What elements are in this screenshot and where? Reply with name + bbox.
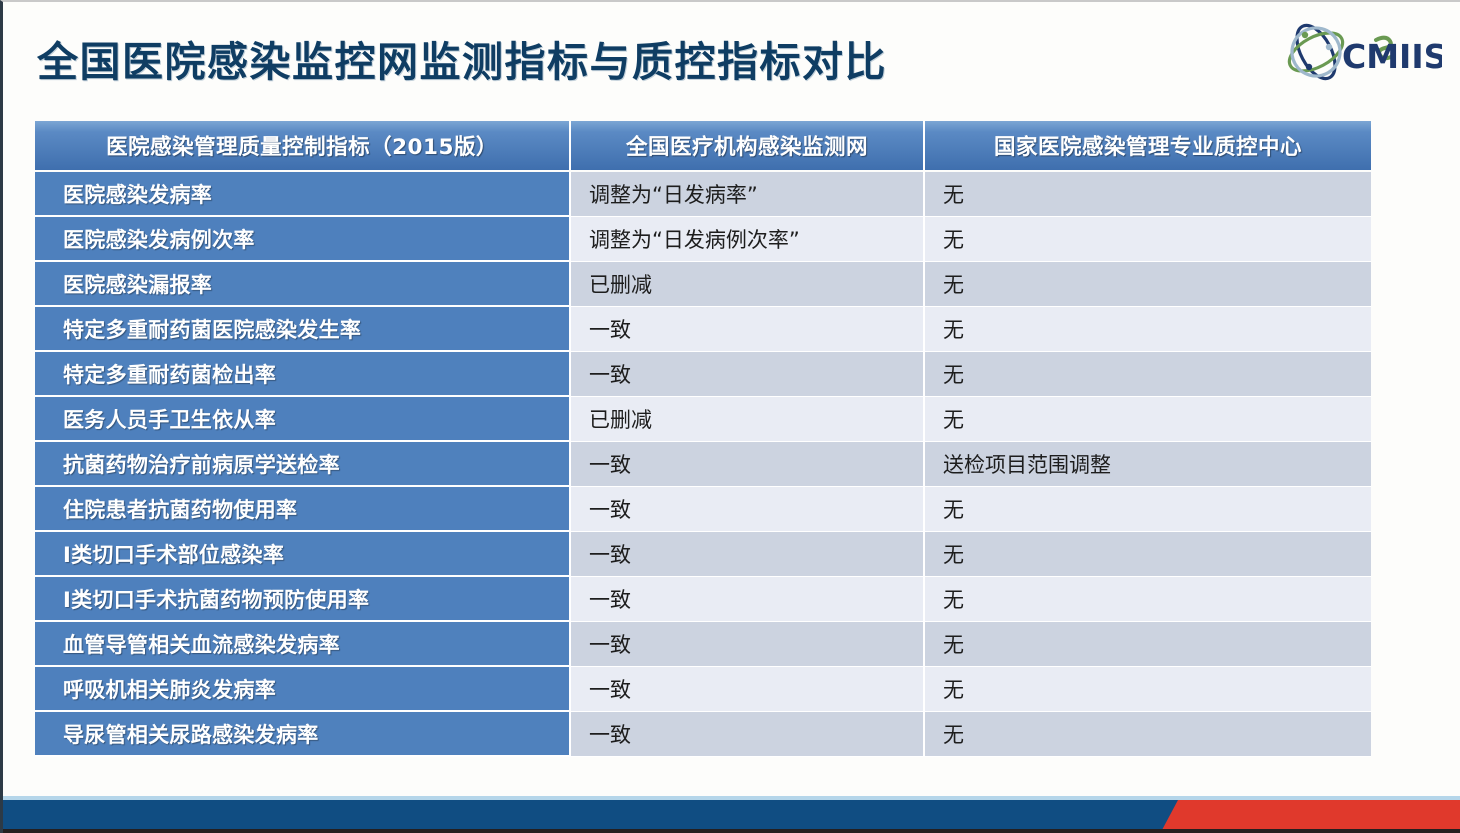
table-row: 住院患者抗菌药物使用率 一致 无 [35, 487, 1371, 532]
cell-indicator: 住院患者抗菌药物使用率 [35, 487, 571, 532]
table-row: 导尿管相关尿路感染发病率 一致 无 [35, 712, 1371, 757]
cell-network: 一致 [571, 577, 925, 622]
table-row: 呼吸机相关肺炎发病率 一致 无 [35, 667, 1371, 712]
cell-indicator: 抗菌药物治疗前病原学送检率 [35, 442, 571, 487]
cell-indicator: 呼吸机相关肺炎发病率 [35, 667, 571, 712]
cell-network: 一致 [571, 667, 925, 712]
cell-center: 无 [925, 667, 1371, 712]
cell-center: 无 [925, 262, 1371, 307]
header-cell-network: 全国医疗机构感染监测网 [571, 121, 925, 170]
comparison-table: 医院感染管理质量控制指标（2015版） 全国医疗机构感染监测网 国家医院感染管理… [35, 121, 1371, 757]
cell-network: 调整为“日发病率” [571, 172, 925, 217]
table-row: 医院感染发病例次率 调整为“日发病例次率” 无 [35, 217, 1371, 262]
cell-indicator: I类切口手术部位感染率 [35, 532, 571, 577]
cell-center: 无 [925, 577, 1371, 622]
cell-center: 无 [925, 622, 1371, 667]
table-row: 特定多重耐药菌医院感染发生率 一致 无 [35, 307, 1371, 352]
table-row: 医院感染发病率 调整为“日发病率” 无 [35, 172, 1371, 217]
cell-center: 无 [925, 172, 1371, 217]
slide: 全国医院感染监控网监测指标与质控指标对比 CMIISS 医院感染管理质量控制指标… [0, 0, 1460, 833]
cmiiss-logo: CMIISS [1282, 16, 1442, 90]
table-header-row: 医院感染管理质量控制指标（2015版） 全国医疗机构感染监测网 国家医院感染管理… [35, 121, 1371, 170]
table-row: 血管导管相关血流感染发病率 一致 无 [35, 622, 1371, 667]
cell-indicator: 医院感染发病例次率 [35, 217, 571, 262]
cell-indicator: 医院感染漏报率 [35, 262, 571, 307]
footer-shadow [3, 829, 1460, 833]
table-row: I类切口手术抗菌药物预防使用率 一致 无 [35, 577, 1371, 622]
cell-network: 一致 [571, 712, 925, 757]
cell-network: 一致 [571, 487, 925, 532]
cell-indicator: 特定多重耐药菌检出率 [35, 352, 571, 397]
header-cell-indicator: 医院感染管理质量控制指标（2015版） [35, 121, 571, 170]
footer-bar-blue [3, 800, 1178, 830]
cell-network: 已删减 [571, 262, 925, 307]
cell-network: 一致 [571, 442, 925, 487]
cell-center: 无 [925, 352, 1371, 397]
cell-center: 无 [925, 712, 1371, 757]
cell-center: 无 [925, 307, 1371, 352]
cell-network: 一致 [571, 532, 925, 577]
atom-orbital-icon: CMIISS [1282, 16, 1442, 90]
cell-center: 无 [925, 532, 1371, 577]
cell-center: 无 [925, 397, 1371, 442]
cell-indicator: 特定多重耐药菌医院感染发生率 [35, 307, 571, 352]
header-cell-center: 国家医院感染管理专业质控中心 [925, 121, 1371, 170]
page-title: 全国医院感染监控网监测指标与质控指标对比 [37, 28, 887, 88]
cell-center: 送检项目范围调整 [925, 442, 1371, 487]
table-row: I类切口手术部位感染率 一致 无 [35, 532, 1371, 577]
cell-indicator: 导尿管相关尿路感染发病率 [35, 712, 571, 757]
cell-network: 已删减 [571, 397, 925, 442]
table-row: 特定多重耐药菌检出率 一致 无 [35, 352, 1371, 397]
cell-indicator: I类切口手术抗菌药物预防使用率 [35, 577, 571, 622]
table-row: 抗菌药物治疗前病原学送检率 一致 送检项目范围调整 [35, 442, 1371, 487]
cell-network: 一致 [571, 307, 925, 352]
cell-network: 一致 [571, 352, 925, 397]
cell-center: 无 [925, 487, 1371, 532]
cell-indicator: 血管导管相关血流感染发病率 [35, 622, 571, 667]
cell-network: 调整为“日发病例次率” [571, 217, 925, 262]
table-row: 医务人员手卫生依从率 已删减 无 [35, 397, 1371, 442]
cell-indicator: 医务人员手卫生依从率 [35, 397, 571, 442]
table-row: 医院感染漏报率 已删减 无 [35, 262, 1371, 307]
cell-network: 一致 [571, 622, 925, 667]
cell-center: 无 [925, 217, 1371, 262]
logo-wordmark: CMIISS [1342, 37, 1442, 76]
cell-indicator: 医院感染发病率 [35, 172, 571, 217]
